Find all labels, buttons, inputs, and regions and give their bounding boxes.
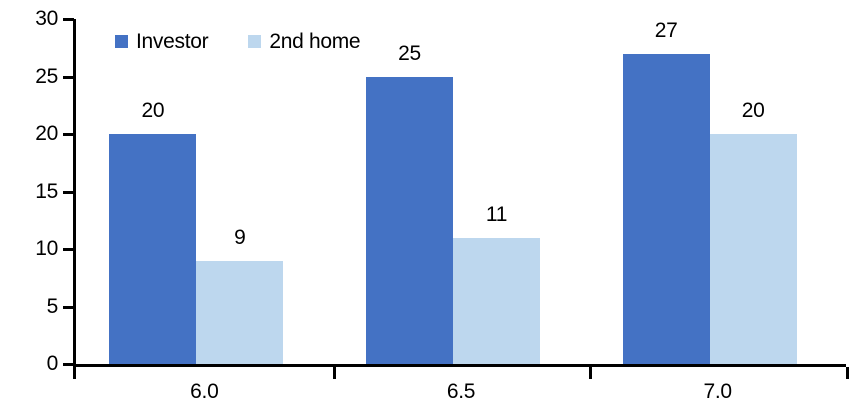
- legend-label: Investor: [136, 31, 208, 52]
- bar-2nd-home-7.0[interactable]: [710, 134, 797, 364]
- y-axis-tick-label: 0: [0, 353, 58, 374]
- y-axis-tick-label: 30: [0, 8, 58, 29]
- y-axis-tick-label-text: 0: [12, 353, 58, 374]
- legend-swatch-icon: [115, 35, 128, 48]
- bar-value-label: 27: [626, 20, 706, 41]
- y-axis-tick-label-text: 30: [12, 8, 58, 29]
- y-axis-tick-label-text: 10: [12, 238, 58, 259]
- x-axis-tick: [333, 367, 336, 379]
- x-axis-tick-label: 6.0: [144, 381, 264, 403]
- legend-swatch-icon: [248, 35, 261, 48]
- bar-investor-7.0[interactable]: [623, 54, 710, 365]
- y-axis-tick-label: 5: [0, 296, 58, 317]
- x-axis-tick-label: 7.0: [658, 381, 778, 403]
- bar-investor-6.0[interactable]: [109, 134, 196, 364]
- y-axis-tick-label: 15: [0, 181, 58, 202]
- bar-investor-6.5[interactable]: [366, 77, 453, 365]
- x-axis-tick: [589, 367, 592, 379]
- x-axis-tick: [73, 367, 76, 379]
- y-axis-tick-label-text: 25: [12, 66, 58, 87]
- bar-2nd-home-6.0[interactable]: [196, 261, 283, 365]
- bar-value-label: 20: [713, 100, 793, 121]
- bar-value-label: 20: [113, 100, 193, 121]
- chart-legend: Investor2nd home: [115, 31, 360, 52]
- legend-label: 2nd home: [269, 31, 360, 52]
- bar-value-label: 11: [457, 204, 537, 225]
- legend-item-investor[interactable]: Investor: [115, 31, 208, 52]
- y-axis-tick-label-text: 5: [12, 296, 58, 317]
- plot-area: 20925112720: [76, 19, 846, 364]
- y-axis-tick-label: 20: [0, 123, 58, 144]
- y-axis-tick-label: 25: [0, 66, 58, 87]
- x-axis-tick-label: 6.5: [401, 381, 521, 403]
- y-axis-tick-label-text: 15: [12, 181, 58, 202]
- y-axis-tick-label-text: 20: [12, 123, 58, 144]
- x-axis-tick: [846, 367, 849, 379]
- legend-item-2nd-home[interactable]: 2nd home: [248, 31, 360, 52]
- bar-value-label: 25: [370, 43, 450, 64]
- y-axis-tick-label: 10: [0, 238, 58, 259]
- bar-2nd-home-6.5[interactable]: [453, 238, 540, 365]
- x-axis-line: [73, 364, 846, 367]
- bar-chart: 051015202530 6.06.57.0 20925112720 Inves…: [0, 0, 852, 410]
- bar-value-label: 9: [200, 227, 280, 248]
